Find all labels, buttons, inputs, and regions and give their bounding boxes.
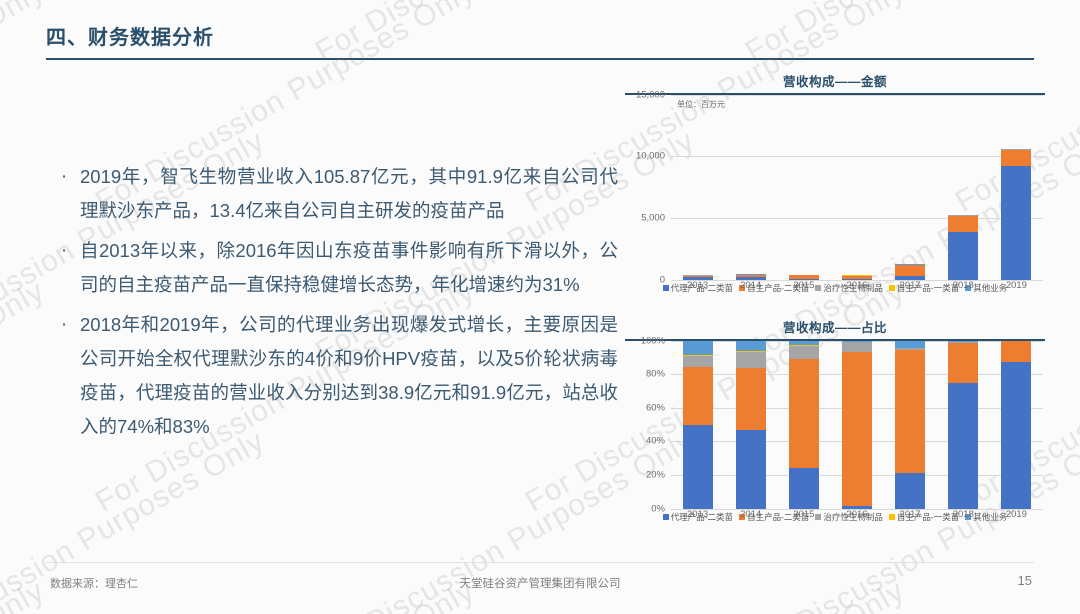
bar-column [736,95,766,280]
y-axis-tick-label: 0% [651,503,665,514]
x-axis-tick-label: 2018 [948,280,978,291]
slide-footer: 数据来源：理杏仁 天堂硅谷资产管理集团有限公司 15 [0,562,1080,614]
bar-segment [948,216,978,232]
x-axis-tick-label: 2016 [842,509,872,520]
chart-revenue-amount: 营收构成——金额 单位：百万元 05,00010,00015,000 20132… [625,74,1045,322]
bar-segment [736,341,766,352]
chart-share-title: 营收构成——占比 [625,320,1045,336]
page-title: 四、财务数据分析 [46,24,1034,52]
chart-amount-plot: 单位：百万元 05,00010,00015,000 [625,95,1045,280]
x-axis-tick-label: 2014 [736,280,766,291]
footer-company: 天堂硅谷资产管理集团有限公司 [0,575,1080,591]
watermark-text: For Discussion Purposes Only [0,274,51,519]
x-axis-tick-label: 2017 [895,280,925,291]
chart-share-y-axis: 0%20%40%60%80%100% [625,341,669,509]
bar-segment [842,342,872,352]
bar-segment [895,473,925,508]
y-axis-tick-label: 20% [646,469,665,480]
chart-revenue-share: 营收构成——占比 0%20%40%60%80%100% 201320142015… [625,320,1045,548]
y-axis-tick-label: 80% [646,369,665,380]
bullet-marker-icon: · [48,160,80,194]
bar-segment [1001,166,1031,279]
bar-column [789,341,819,509]
bullet-text: 2019年，智飞生物营业收入105.87亿元，其中91.9亿来自公司代理默沙东产… [80,160,618,228]
bullet-item: ·2019年，智飞生物营业收入105.87亿元，其中91.9亿来自公司代理默沙东… [48,160,618,228]
x-axis-tick-label: 2019 [1001,509,1031,520]
y-axis-tick-label: 15,000 [636,89,665,100]
x-axis-tick-label: 2017 [895,509,925,520]
bar-segment [736,352,766,368]
y-axis-tick-label: 10,000 [636,151,665,162]
x-axis-tick-label: 2015 [789,280,819,291]
bar-segment [789,346,819,359]
bullet-item: ·2018年和2019年，公司的代理业务出现爆发式增长，主要原因是公司开始全权代… [48,308,618,444]
bar-column [948,341,978,509]
legend-swatch-icon [663,514,669,520]
chart-amount-x-axis: 2013201420152016201720182019 [671,280,1043,291]
bar-segment [948,232,978,280]
y-axis-tick-label: 0 [660,274,665,285]
bar-column [1001,95,1031,280]
bar-column [895,341,925,509]
footer-divider [46,562,1034,563]
chart-share-bars [671,341,1043,509]
bar-segment [948,343,978,383]
bar-segment [895,341,925,348]
legend-swatch-icon [663,285,669,291]
bar-column [736,341,766,509]
bullet-item: ·自2013年以来，除2016年因山东疫苗事件影响有所下滑以外，公司的自主疫苗产… [48,234,618,302]
slide-header: 四、财务数据分析 [46,24,1034,60]
footer-page-number: 15 [1018,573,1032,588]
bar-segment [842,352,872,506]
bullet-list: ·2019年，智飞生物营业收入105.87亿元，其中91.9亿来自公司代理默沙东… [48,160,618,450]
x-axis-tick-label: 2016 [842,280,872,291]
x-axis-tick-label: 2013 [683,509,713,520]
bar-segment [683,367,713,424]
bar-segment [736,368,766,429]
chart-share-x-axis: 2013201420152016201720182019 [671,509,1043,520]
chart-amount-title: 营收构成——金额 [625,74,1045,90]
bar-column [948,95,978,280]
bar-segment [895,265,925,276]
bar-segment [789,468,819,508]
bar-segment [895,350,925,473]
x-axis-tick-label: 2014 [736,509,766,520]
bar-segment [1001,150,1031,167]
slide-canvas: For Discussion Purposes OnlyFor Discussi… [0,0,1080,614]
bar-column [842,341,872,509]
bar-column [1001,341,1031,509]
bar-segment [948,383,978,508]
bar-segment [789,359,819,468]
chart-amount-y-axis: 05,00010,00015,000 [625,95,669,280]
y-axis-tick-label: 5,000 [641,212,665,223]
bar-segment [1001,362,1031,508]
bullet-text: 自2013年以来，除2016年因山东疫苗事件影响有所下滑以外，公司的自主疫苗产品… [80,234,618,302]
y-axis-tick-label: 60% [646,402,665,413]
y-axis-tick-label: 40% [646,436,665,447]
x-axis-tick-label: 2013 [683,280,713,291]
bullet-text: 2018年和2019年，公司的代理业务出现爆发式增长，主要原因是公司开始全权代理… [80,308,618,444]
bar-segment [683,356,713,368]
watermark-text: For Discussion Purposes Only [0,0,51,219]
bar-column [683,341,713,509]
bar-segment [736,430,766,509]
chart-amount-grid [671,95,1043,280]
bar-column [789,95,819,280]
chart-amount-bars [671,95,1043,280]
bar-segment [1001,341,1031,362]
bullet-marker-icon: · [48,234,80,268]
x-axis-tick-label: 2015 [789,509,819,520]
bar-segment [683,425,713,509]
title-divider [46,58,1034,60]
bullet-marker-icon: · [48,308,80,342]
bar-segment [683,341,713,355]
bar-column [842,95,872,280]
chart-share-grid [671,341,1043,509]
y-axis-tick-label: 100% [641,335,665,346]
x-axis-tick-label: 2018 [948,509,978,520]
bar-column [683,95,713,280]
bar-column [895,95,925,280]
chart-share-plot: 0%20%40%60%80%100% [625,341,1045,509]
x-axis-tick-label: 2019 [1001,280,1031,291]
